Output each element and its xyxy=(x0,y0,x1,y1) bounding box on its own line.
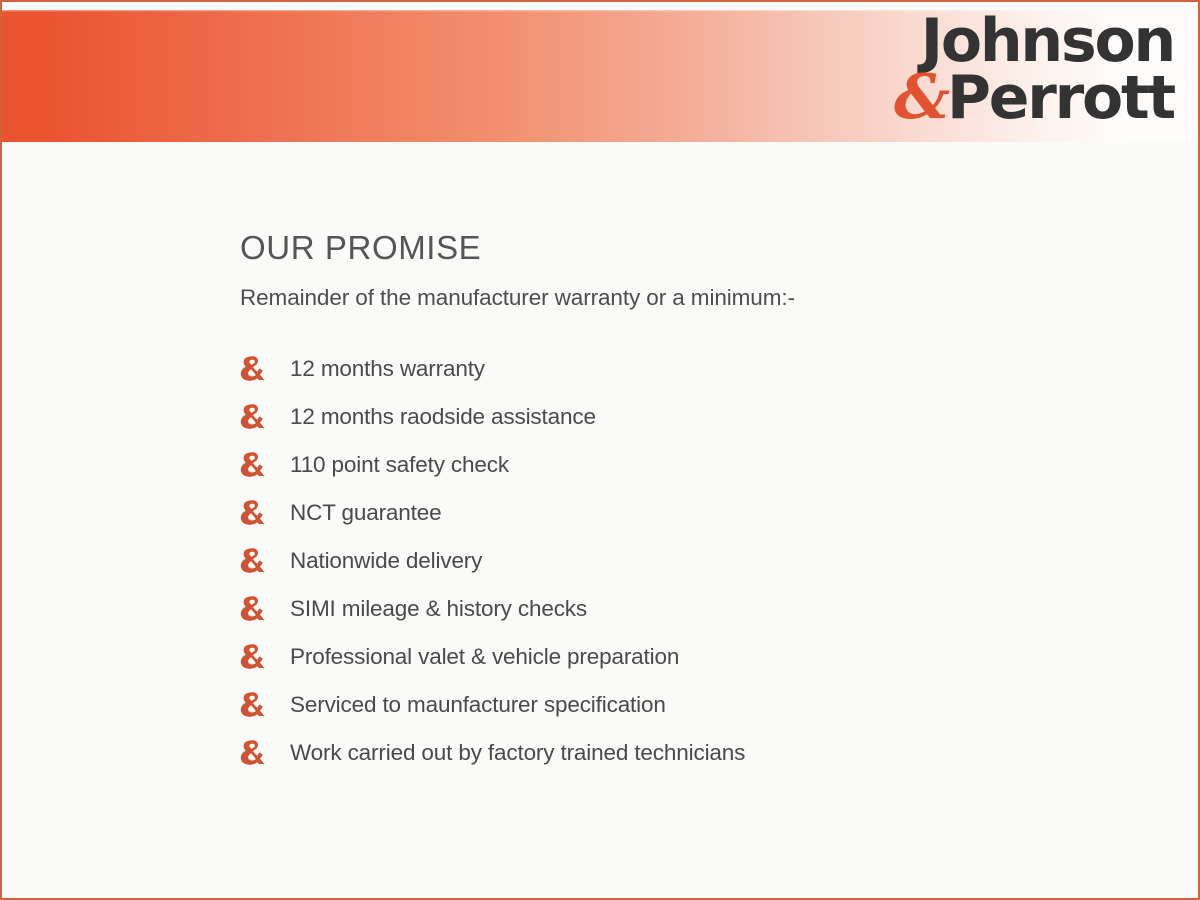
list-item: Serviced to maunfacturer specification xyxy=(240,681,1158,729)
list-item-label: NCT guarantee xyxy=(290,500,441,526)
ampersand-bullet-icon xyxy=(240,355,290,383)
page-title: OUR PROMISE xyxy=(240,230,1158,266)
list-item-label: Nationwide delivery xyxy=(290,548,482,574)
list-item-label: 12 months raodside assistance xyxy=(290,404,596,430)
list-item-label: Serviced to maunfacturer specification xyxy=(290,692,666,718)
list-item: Work carried out by factory trained tech… xyxy=(240,729,1158,777)
list-item: Nationwide delivery xyxy=(240,537,1158,585)
ampersand-bullet-icon xyxy=(240,547,290,575)
ampersand-bullet-icon xyxy=(240,643,290,671)
ampersand-bullet-icon xyxy=(240,499,290,527)
list-item-label: 110 point safety check xyxy=(290,452,509,478)
list-item: SIMI mileage & history checks xyxy=(240,585,1158,633)
list-item: 12 months warranty xyxy=(240,345,1158,393)
list-item-label: Work carried out by factory trained tech… xyxy=(290,740,745,766)
logo-line-perrott: &Perrott xyxy=(894,68,1174,127)
ampersand-bullet-icon xyxy=(240,691,290,719)
list-item: 110 point safety check xyxy=(240,441,1158,489)
ampersand-bullet-icon xyxy=(240,403,290,431)
list-item-label: SIMI mileage & history checks xyxy=(290,596,587,622)
logo-ampersand-icon: & xyxy=(894,60,946,133)
list-item: NCT guarantee xyxy=(240,489,1158,537)
list-item-label: 12 months warranty xyxy=(290,356,485,382)
promise-list: 12 months warranty 12 months raodside as… xyxy=(240,345,1158,777)
ampersand-bullet-icon xyxy=(240,739,290,767)
promise-content: OUR PROMISE Remainder of the manufacture… xyxy=(240,230,1158,777)
logo-perrott-text: Perrott xyxy=(947,63,1174,133)
page-header: Johnson &Perrott xyxy=(2,2,1198,142)
ampersand-bullet-icon xyxy=(240,595,290,623)
brand-logo: Johnson &Perrott xyxy=(894,14,1174,127)
list-item: Professional valet & vehicle preparation xyxy=(240,633,1158,681)
list-item-label: Professional valet & vehicle preparation xyxy=(290,644,679,670)
list-item: 12 months raodside assistance xyxy=(240,393,1158,441)
promise-page: Johnson &Perrott OUR PROMISE Remainder o… xyxy=(0,0,1200,900)
page-subtitle: Remainder of the manufacturer warranty o… xyxy=(240,284,1158,311)
ampersand-bullet-icon xyxy=(240,451,290,479)
